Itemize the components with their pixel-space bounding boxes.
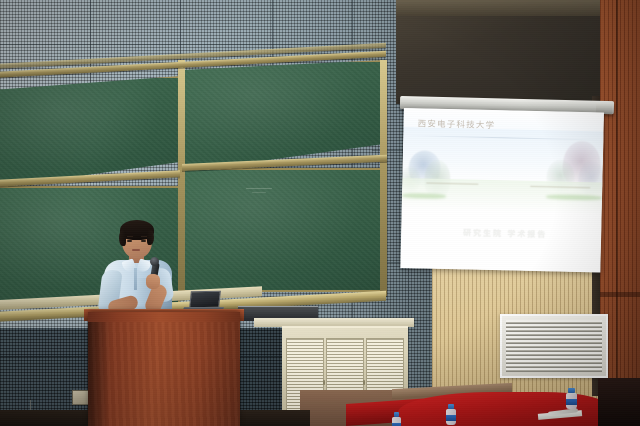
podium-wood-grain [88, 322, 240, 426]
sliding-chalkboard-assembly[interactable] [0, 60, 390, 328]
pillar-seam [616, 0, 618, 426]
bottle-label [566, 399, 577, 405]
bottle-label [446, 415, 456, 421]
presentation-slide: 西安电子科技大学 研究生院 学术报告 [400, 108, 604, 272]
chalk-residue [246, 188, 272, 189]
bottle-cap [568, 388, 574, 393]
bottle-cap [448, 404, 454, 409]
lecture-hall-photo: 西安电子科技大学 研究生院 学术报告 [0, 0, 640, 426]
laptop-screen[interactable] [189, 291, 221, 309]
water-bottle[interactable] [392, 412, 401, 426]
soffit-beam [396, 0, 608, 16]
presenter-hair-side [119, 230, 126, 246]
presenter [96, 222, 192, 318]
presenter-hand [146, 274, 160, 289]
pillar-band [600, 292, 640, 297]
chalk-residue [252, 192, 266, 193]
presenter-eyebrow [141, 236, 147, 237]
presenter-eye [127, 240, 132, 242]
air-vent [500, 314, 608, 378]
wall-outlet[interactable] [72, 390, 89, 405]
presenter-hair-side [147, 230, 154, 245]
projection-screen[interactable]: 西安电子科技大学 研究生院 学术报告 [400, 108, 604, 272]
podium-shading [88, 322, 110, 426]
cabinet-knob[interactable] [363, 380, 365, 385]
chalkboard-rail-vertical [380, 60, 387, 296]
slide-subtitle: 研究生院 学术报告 [445, 227, 565, 241]
bottle-cap [394, 412, 399, 417]
water-bottle[interactable] [446, 404, 456, 424]
presenter-eye [141, 240, 146, 242]
vent-louvers [506, 320, 602, 372]
cabinet-knob[interactable] [323, 380, 325, 385]
presenter-eyebrow [127, 236, 133, 237]
slide-title: 西安电子科技大学 [418, 117, 496, 131]
dark-table-right [598, 378, 640, 426]
water-bottle[interactable] [566, 388, 577, 410]
shirt-placket [134, 268, 137, 290]
presenter-mouth [132, 249, 140, 251]
chalkboard-panel-lower-right[interactable] [182, 168, 384, 292]
